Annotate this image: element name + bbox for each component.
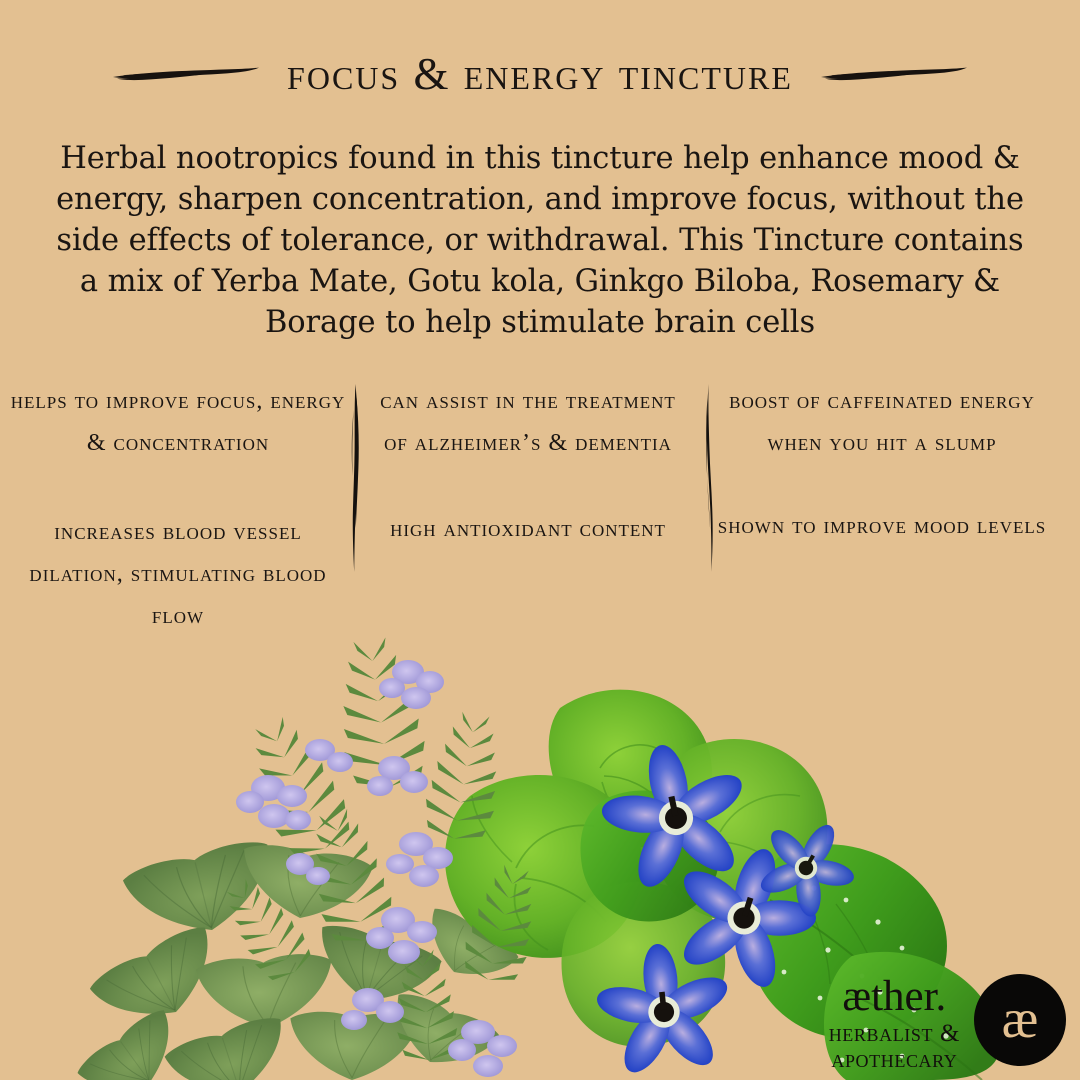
- brand-wordmark: æther.: [829, 975, 960, 1018]
- brand-badge-glyph: æ: [1002, 991, 1039, 1046]
- benefit-item: Boost of caffeinated energy when you hit…: [712, 380, 1052, 464]
- page-title: Focus & Energy Tincture: [287, 52, 793, 97]
- gotu-kola-leaves-group: [445, 690, 827, 1047]
- brand-badge[interactable]: æ: [974, 974, 1066, 1066]
- benefit-column-3: Boost of caffeinated energy when you hit…: [712, 380, 1052, 547]
- brand-logo[interactable]: æther. Herbalist & Apothecary: [829, 975, 960, 1072]
- benefit-column-2: Can assist in the treatment of Alzheimer…: [368, 380, 688, 550]
- benefit-column-1: Helps to improve focus, energy & concent…: [8, 380, 348, 637]
- rosemary-group: [213, 634, 547, 1072]
- poster-header: Focus & Energy Tincture: [0, 52, 1080, 97]
- benefit-item: High antioxidant content: [368, 508, 688, 550]
- benefit-item: Can assist in the treatment of Alzheimer…: [368, 380, 688, 464]
- brush-stroke-icon: [819, 62, 969, 88]
- brand-tagline-line-1: Herbalist &: [829, 1021, 960, 1046]
- benefit-item: Increases blood vessel dilation, stimula…: [8, 511, 348, 637]
- ginkgo-leaves-group: [74, 836, 522, 1080]
- benefits-section: Helps to improve focus, energy & concent…: [0, 380, 1080, 640]
- brand-tagline-line-2: Apothecary: [829, 1047, 960, 1072]
- brush-stroke-icon: [111, 62, 261, 88]
- benefit-item: Helps to improve focus, energy & concent…: [8, 380, 348, 464]
- intro-paragraph: Herbal nootropics found in this tincture…: [44, 138, 1036, 343]
- poster-canvas: Focus & Energy Tincture Herbal nootropic…: [0, 0, 1080, 1080]
- rosemary-flowers-group: [236, 660, 517, 1077]
- benefit-item: Shown to improve mood levels: [712, 505, 1052, 547]
